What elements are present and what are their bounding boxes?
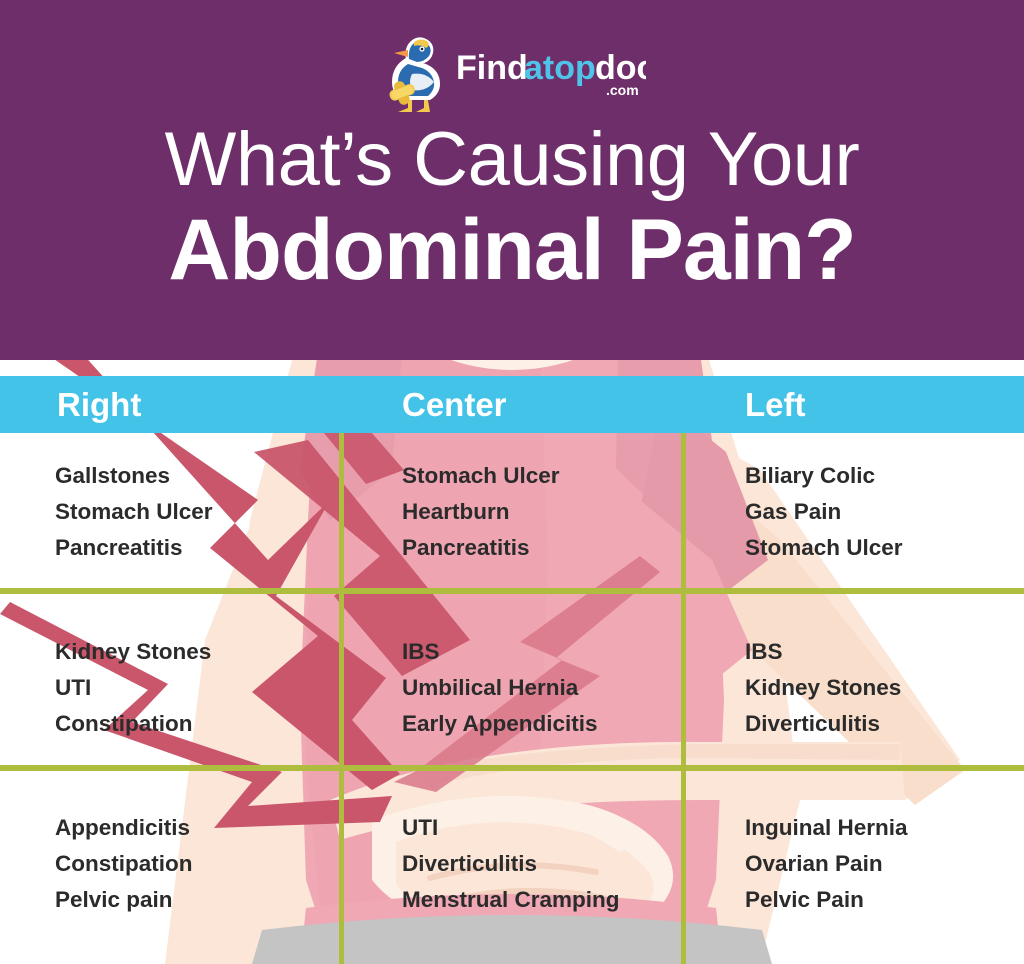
cell-row1-left: Biliary Colic Gas Pain Stomach Ulcer [745, 458, 903, 566]
cell-row1-center: Stomach Ulcer Heartburn Pancreatitis [402, 458, 560, 566]
cell-row1-right: Gallstones Stomach Ulcer Pancreatitis [55, 458, 213, 566]
list-item: Kidney Stones [745, 670, 901, 706]
column-header-right: Right [57, 376, 141, 433]
brand-logo[interactable]: Find atop doc .com [0, 28, 1024, 118]
svg-text:atop: atop [524, 49, 596, 87]
list-item: Constipation [55, 846, 192, 882]
title-block: What’s Causing Your Abdominal Pain? [0, 122, 1024, 297]
list-item: Biliary Colic [745, 458, 903, 494]
duck-doctor-mascot-icon [378, 30, 450, 116]
list-item: Pancreatitis [402, 530, 560, 566]
list-item: UTI [402, 810, 620, 846]
infographic-root: Find atop doc .com What’s Causing Your A… [0, 0, 1024, 964]
list-item: IBS [402, 634, 597, 670]
list-item: Pelvic Pain [745, 882, 908, 918]
list-item: Ovarian Pain [745, 846, 908, 882]
list-item: Inguinal Hernia [745, 810, 908, 846]
cell-row2-left: IBS Kidney Stones Diverticulitis [745, 634, 901, 742]
title-line-2: Abdominal Pain? [0, 204, 1024, 297]
cell-row3-center: UTI Diverticulitis Menstrual Cramping [402, 810, 620, 918]
cell-row3-right: Appendicitis Constipation Pelvic pain [55, 810, 192, 918]
column-divider-2 [681, 433, 686, 964]
list-item: Stomach Ulcer [55, 494, 213, 530]
column-header-center: Center [402, 376, 507, 433]
list-item: Kidney Stones [55, 634, 211, 670]
list-item: UTI [55, 670, 211, 706]
list-item: Stomach Ulcer [745, 530, 903, 566]
row-divider-2 [0, 765, 1024, 771]
list-item: Umbilical Hernia [402, 670, 597, 706]
list-item: Pancreatitis [55, 530, 213, 566]
list-item: Menstrual Cramping [402, 882, 620, 918]
svg-text:Find: Find [456, 49, 528, 87]
list-item: Early Appendicitis [402, 706, 597, 742]
cell-row2-center: IBS Umbilical Hernia Early Appendicitis [402, 634, 597, 742]
list-item: Constipation [55, 706, 211, 742]
column-divider-1 [339, 433, 344, 964]
findatopdoc-wordmark-icon: Find atop doc .com [456, 43, 646, 103]
svg-text:.com: .com [606, 82, 639, 98]
column-header-left: Left [745, 376, 806, 433]
list-item: Gas Pain [745, 494, 903, 530]
list-item: Pelvic pain [55, 882, 192, 918]
column-header-bar [0, 376, 1024, 433]
cell-row3-left: Inguinal Hernia Ovarian Pain Pelvic Pain [745, 810, 908, 918]
list-item: IBS [745, 634, 901, 670]
list-item: Heartburn [402, 494, 560, 530]
row-divider-1 [0, 588, 1024, 594]
list-item: Gallstones [55, 458, 213, 494]
list-item: Stomach Ulcer [402, 458, 560, 494]
title-line-1: What’s Causing Your [0, 122, 1024, 198]
cell-row2-right: Kidney Stones UTI Constipation [55, 634, 211, 742]
list-item: Diverticulitis [745, 706, 901, 742]
list-item: Diverticulitis [402, 846, 620, 882]
list-item: Appendicitis [55, 810, 192, 846]
